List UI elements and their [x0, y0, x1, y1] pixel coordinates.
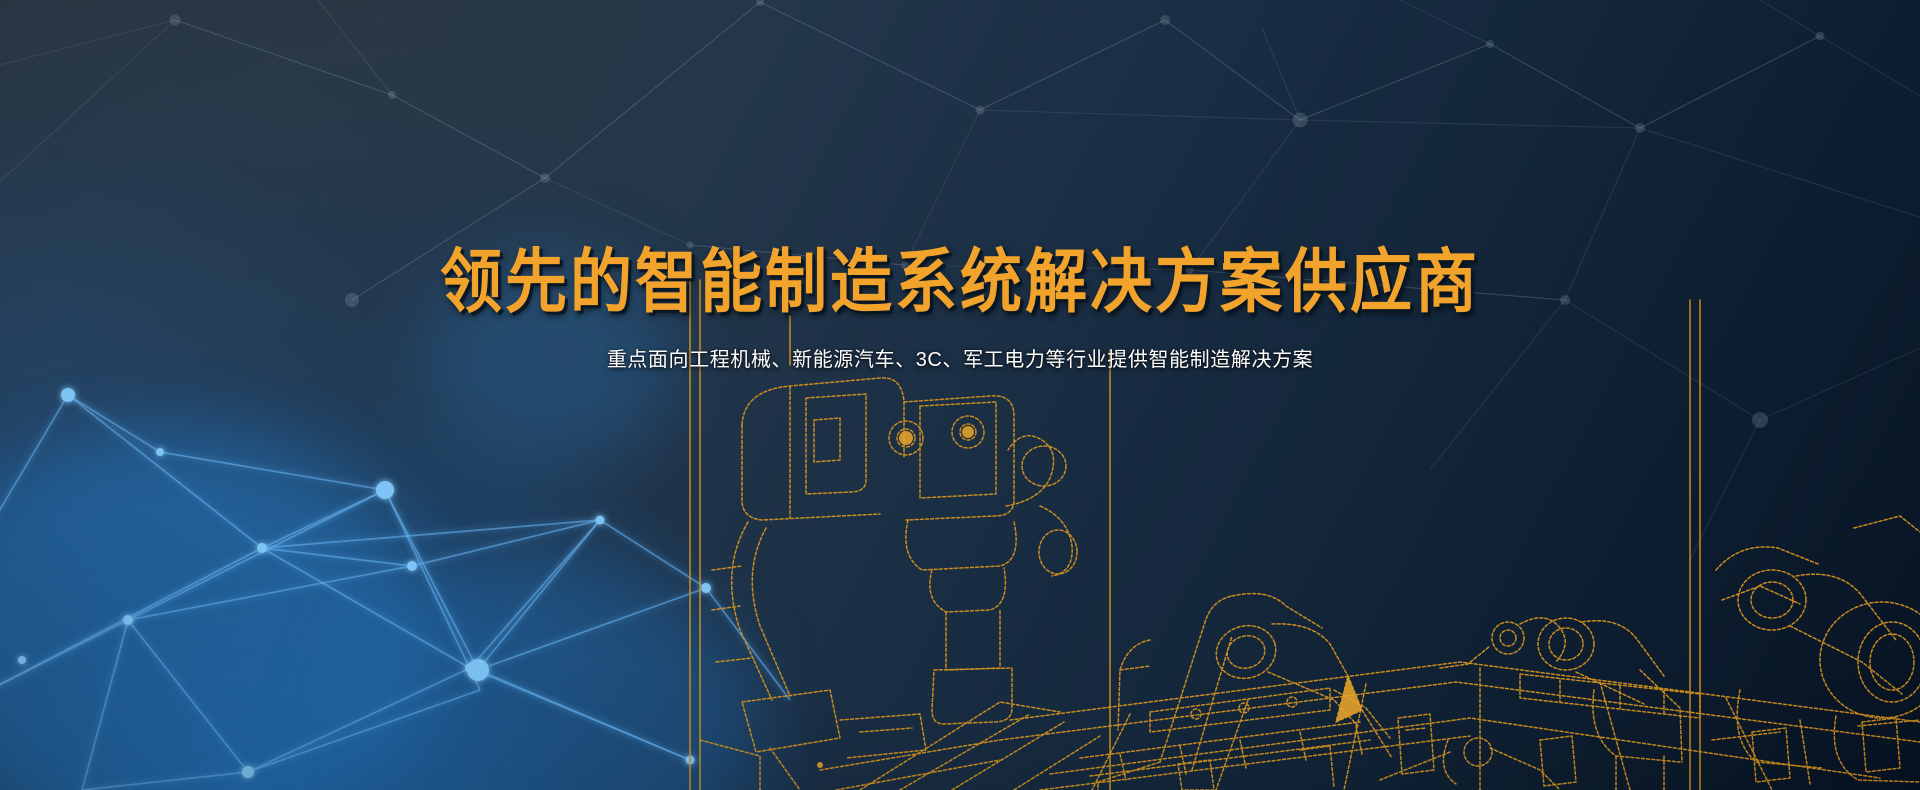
background-network-bright [0, 0, 1920, 790]
page-subtitle: 重点面向工程机械、新能源汽车、3C、军工电力等行业提供智能制造解决方案 [607, 346, 1314, 374]
hero-banner: 领先的智能制造系统解决方案供应商 重点面向工程机械、新能源汽车、3C、军工电力等… [0, 0, 1920, 790]
hero-copy-block: 领先的智能制造系统解决方案供应商 重点面向工程机械、新能源汽车、3C、军工电力等… [0, 246, 1920, 374]
background-network-faint [0, 0, 1920, 790]
glow-accent-left [0, 430, 430, 790]
page-title: 领先的智能制造系统解决方案供应商 [440, 246, 1480, 320]
glow-accent-bottom [330, 560, 760, 790]
vignette-overlay [0, 0, 1920, 790]
